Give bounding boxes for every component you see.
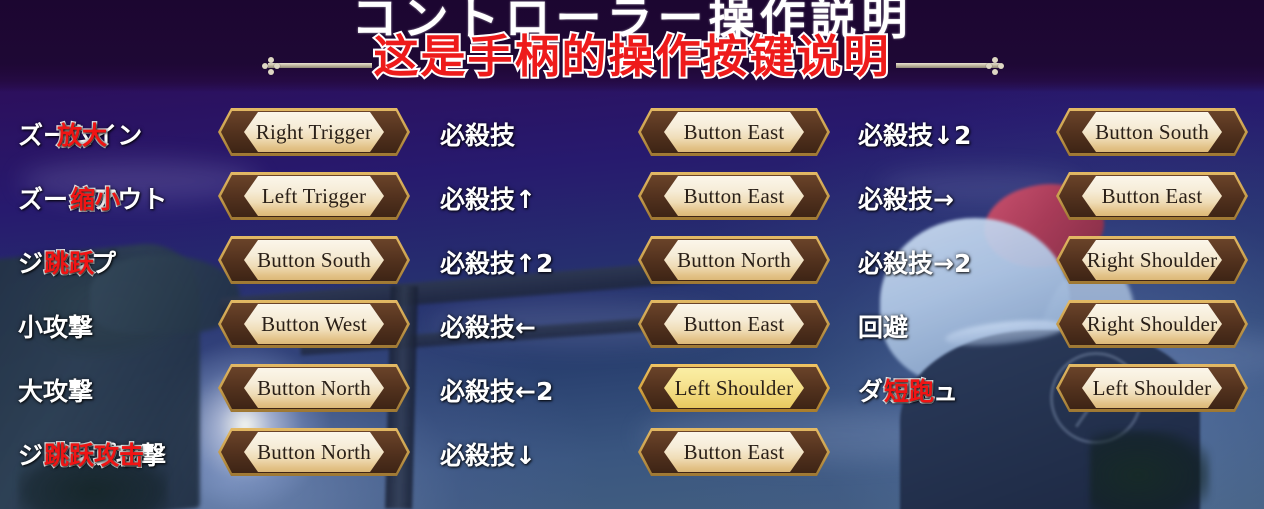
keybind-button-2-4[interactable]: Button East xyxy=(638,300,830,348)
action-label-2-3: 必殺技↑2 xyxy=(440,244,630,280)
button-face: Button East xyxy=(664,176,804,216)
label-translation-overlay: 缩小 xyxy=(70,180,120,216)
keybind-button-2-5[interactable]: Left Shoulder xyxy=(638,364,830,412)
button-face: Button East xyxy=(664,432,804,472)
keybind-button-1-3[interactable]: Button South xyxy=(218,236,410,284)
title-ornament-right xyxy=(986,57,1004,75)
label-overlay-wrapper: ズームイン放大 xyxy=(18,116,142,152)
button-label: Button South xyxy=(257,248,371,273)
button-face: Button East xyxy=(664,304,804,344)
title-rule-right xyxy=(896,63,1000,68)
action-label-3-4: 回避 xyxy=(858,308,1043,344)
action-label-2-2: 必殺技↑ xyxy=(440,180,630,216)
button-face: Button North xyxy=(244,432,384,472)
button-label: Button North xyxy=(257,440,371,465)
button-label: Button East xyxy=(1102,184,1203,209)
button-face: Button South xyxy=(244,240,384,280)
button-label: Button North xyxy=(257,376,371,401)
keybind-button-1-6[interactable]: Button North xyxy=(218,428,410,476)
keybind-button-1-2[interactable]: Left Trigger xyxy=(218,172,410,220)
controller-help-screen: コントローラー操作説明 这是手柄的操作按键说明 ズームイン放大Right Tri… xyxy=(0,0,1264,509)
button-label: Right Shoulder xyxy=(1087,248,1218,273)
action-label-1-3: ジャンプ跳跃 xyxy=(18,244,213,280)
button-face: Button North xyxy=(664,240,804,280)
keybind-button-3-3[interactable]: Right Shoulder xyxy=(1056,236,1248,284)
button-label: Left Shoulder xyxy=(675,376,794,401)
button-face: Right Trigger xyxy=(244,112,384,152)
button-label: Left Shoulder xyxy=(1093,376,1212,401)
action-label-2-5: 必殺技←2 xyxy=(440,372,630,408)
page-title: 这是手柄的操作按键说明 xyxy=(0,20,1264,85)
button-label: Right Trigger xyxy=(256,120,372,145)
button-label: Button East xyxy=(684,440,785,465)
button-face: Button South xyxy=(1082,112,1222,152)
keybind-button-1-4[interactable]: Button West xyxy=(218,300,410,348)
title-rule-left xyxy=(268,63,372,68)
button-face: Left Trigger xyxy=(244,176,384,216)
button-face: Right Shoulder xyxy=(1082,240,1222,280)
keybind-button-2-6[interactable]: Button East xyxy=(638,428,830,476)
action-label-2-4: 必殺技← xyxy=(440,308,630,344)
label-translation-overlay: 跳跃攻击 xyxy=(44,436,144,472)
action-label-1-5: 大攻撃 xyxy=(18,372,213,408)
keybind-button-3-1[interactable]: Button South xyxy=(1056,108,1248,156)
keybind-button-3-5[interactable]: Left Shoulder xyxy=(1056,364,1248,412)
keybind-button-2-1[interactable]: Button East xyxy=(638,108,830,156)
keybind-button-2-2[interactable]: Button East xyxy=(638,172,830,220)
keybinding-grid: ズームイン放大Right Triggerズームアウト缩小Left Trigger… xyxy=(0,92,1264,509)
label-translation-overlay: 放大 xyxy=(57,116,107,152)
action-label-3-5: ダッシュ短跑 xyxy=(858,372,1043,408)
action-label-2-1: 必殺技 xyxy=(440,116,630,152)
button-face: Left Shoulder xyxy=(664,368,804,408)
button-face: Button East xyxy=(664,112,804,152)
button-label: Button North xyxy=(677,248,791,273)
button-face: Right Shoulder xyxy=(1082,304,1222,344)
action-label-1-4: 小攻撃 xyxy=(18,308,213,344)
action-label-1-2: ズームアウト缩小 xyxy=(18,180,213,216)
button-label: Left Trigger xyxy=(262,184,366,209)
keybind-button-2-3[interactable]: Button North xyxy=(638,236,830,284)
button-face: Button East xyxy=(1082,176,1222,216)
button-face: Button North xyxy=(244,368,384,408)
action-label-3-1: 必殺技↓2 xyxy=(858,116,1043,152)
keybind-button-3-2[interactable]: Button East xyxy=(1056,172,1248,220)
label-translation-overlay: 短跑 xyxy=(884,372,934,408)
action-label-1-6: ジャンプ攻撃跳跃攻击 xyxy=(18,436,213,472)
header-bar: コントローラー操作説明 这是手柄的操作按键说明 xyxy=(0,0,1264,92)
action-label-3-3: 必殺技→2 xyxy=(858,244,1043,280)
action-label-1-1: ズームイン放大 xyxy=(18,116,213,152)
button-label: Button West xyxy=(261,312,367,337)
button-face: Button West xyxy=(244,304,384,344)
button-label: Right Shoulder xyxy=(1087,312,1218,337)
title-ornament-left xyxy=(262,57,280,75)
label-overlay-wrapper: ジャンプ攻撃跳跃攻击 xyxy=(18,436,166,472)
label-overlay-wrapper: ダッシュ短跑 xyxy=(858,372,958,408)
button-label: Button East xyxy=(684,120,785,145)
button-label: Button East xyxy=(684,184,785,209)
keybind-button-1-5[interactable]: Button North xyxy=(218,364,410,412)
action-label-2-6: 必殺技↓ xyxy=(440,436,630,472)
label-overlay-wrapper: ジャンプ跳跃 xyxy=(18,244,116,280)
button-label: Button South xyxy=(1095,120,1209,145)
label-overlay-wrapper: ズームアウト缩小 xyxy=(18,180,167,216)
keybind-button-3-4[interactable]: Right Shoulder xyxy=(1056,300,1248,348)
label-translation-overlay: 跳跃 xyxy=(44,244,94,280)
keybind-button-1-1[interactable]: Right Trigger xyxy=(218,108,410,156)
button-face: Left Shoulder xyxy=(1082,368,1222,408)
action-label-3-2: 必殺技→ xyxy=(858,180,1043,216)
button-label: Button East xyxy=(684,312,785,337)
